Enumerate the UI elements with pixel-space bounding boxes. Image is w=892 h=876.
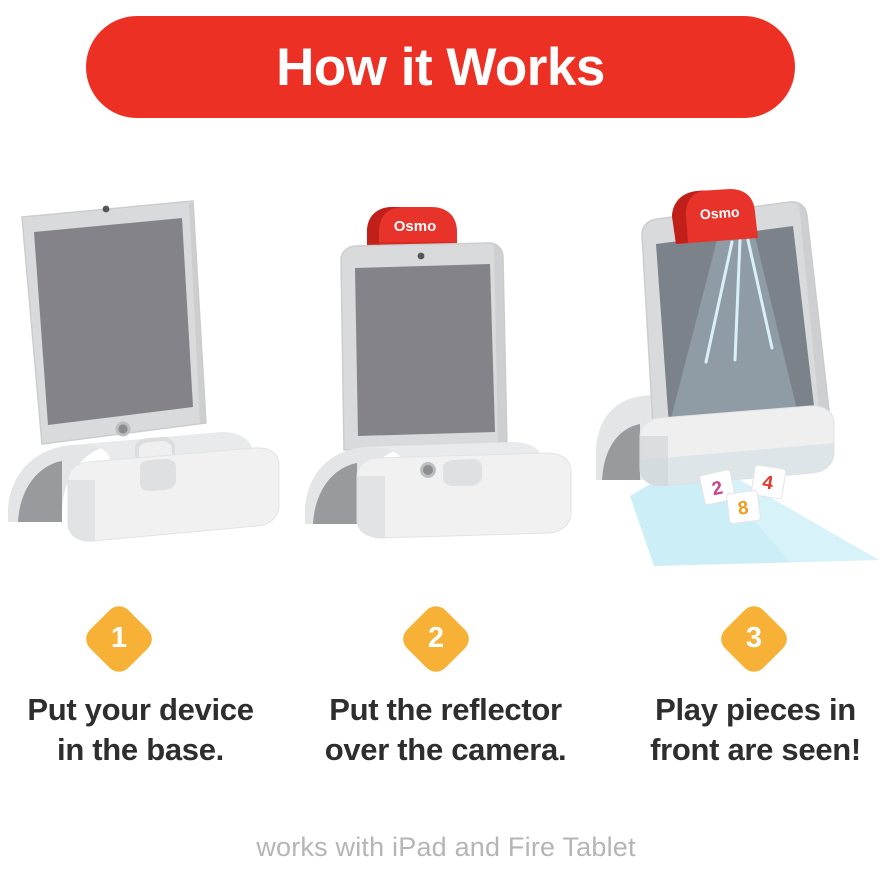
- osmo-reflector-2: Osmo: [367, 207, 457, 248]
- step-caption-1-line2: in the base.: [0, 730, 289, 770]
- reflector-wordmark-2: Osmo: [394, 218, 437, 235]
- illustration-step-3: Osmo 2 4 8: [594, 180, 891, 580]
- step-caption-1: Put your device in the base.: [0, 690, 289, 769]
- step-caption-1-line1: Put your device: [0, 690, 289, 730]
- osmo-base-2: [305, 442, 571, 538]
- tablet-device-1: [22, 201, 206, 444]
- illustration-step-1: [0, 180, 297, 580]
- step-caption-3: Play pieces in front are seen!: [607, 690, 892, 769]
- header-banner: How it Works: [86, 16, 795, 118]
- footer-compatibility-note: works with iPad and Fire Tablet: [0, 832, 892, 863]
- step-caption-2-line2: over the camera.: [297, 730, 594, 770]
- step-badge-1-number: 1: [92, 612, 146, 666]
- osmo-reflector-3: Osmo: [672, 189, 758, 244]
- osmo-base-front-3: [640, 406, 834, 486]
- step-caption-row: Put your device in the base. Put the ref…: [0, 690, 892, 800]
- camera-dot-2: [418, 253, 425, 260]
- play-tile-8: 8: [726, 490, 760, 524]
- camera-dot-1: [103, 206, 110, 213]
- step-caption-2: Put the reflector over the camera.: [297, 690, 594, 769]
- osmo-base-1: [8, 432, 279, 541]
- reflector-wordmark-3: Osmo: [699, 204, 740, 223]
- steps-illustration-row: Osmo: [0, 180, 892, 580]
- step-caption-2-line1: Put the reflector: [297, 690, 594, 730]
- step-caption-3-line1: Play pieces in: [607, 690, 892, 730]
- tablet-device-2: [341, 243, 507, 450]
- illustration-step-2: Osmo: [297, 180, 594, 580]
- step-caption-3-line2: front are seen!: [607, 730, 892, 770]
- step-badge-row: 1 2 3: [0, 612, 892, 684]
- step-badge-2-number: 2: [409, 612, 463, 666]
- page-title: How it Works: [276, 41, 605, 94]
- step-badge-3-number: 3: [727, 612, 781, 666]
